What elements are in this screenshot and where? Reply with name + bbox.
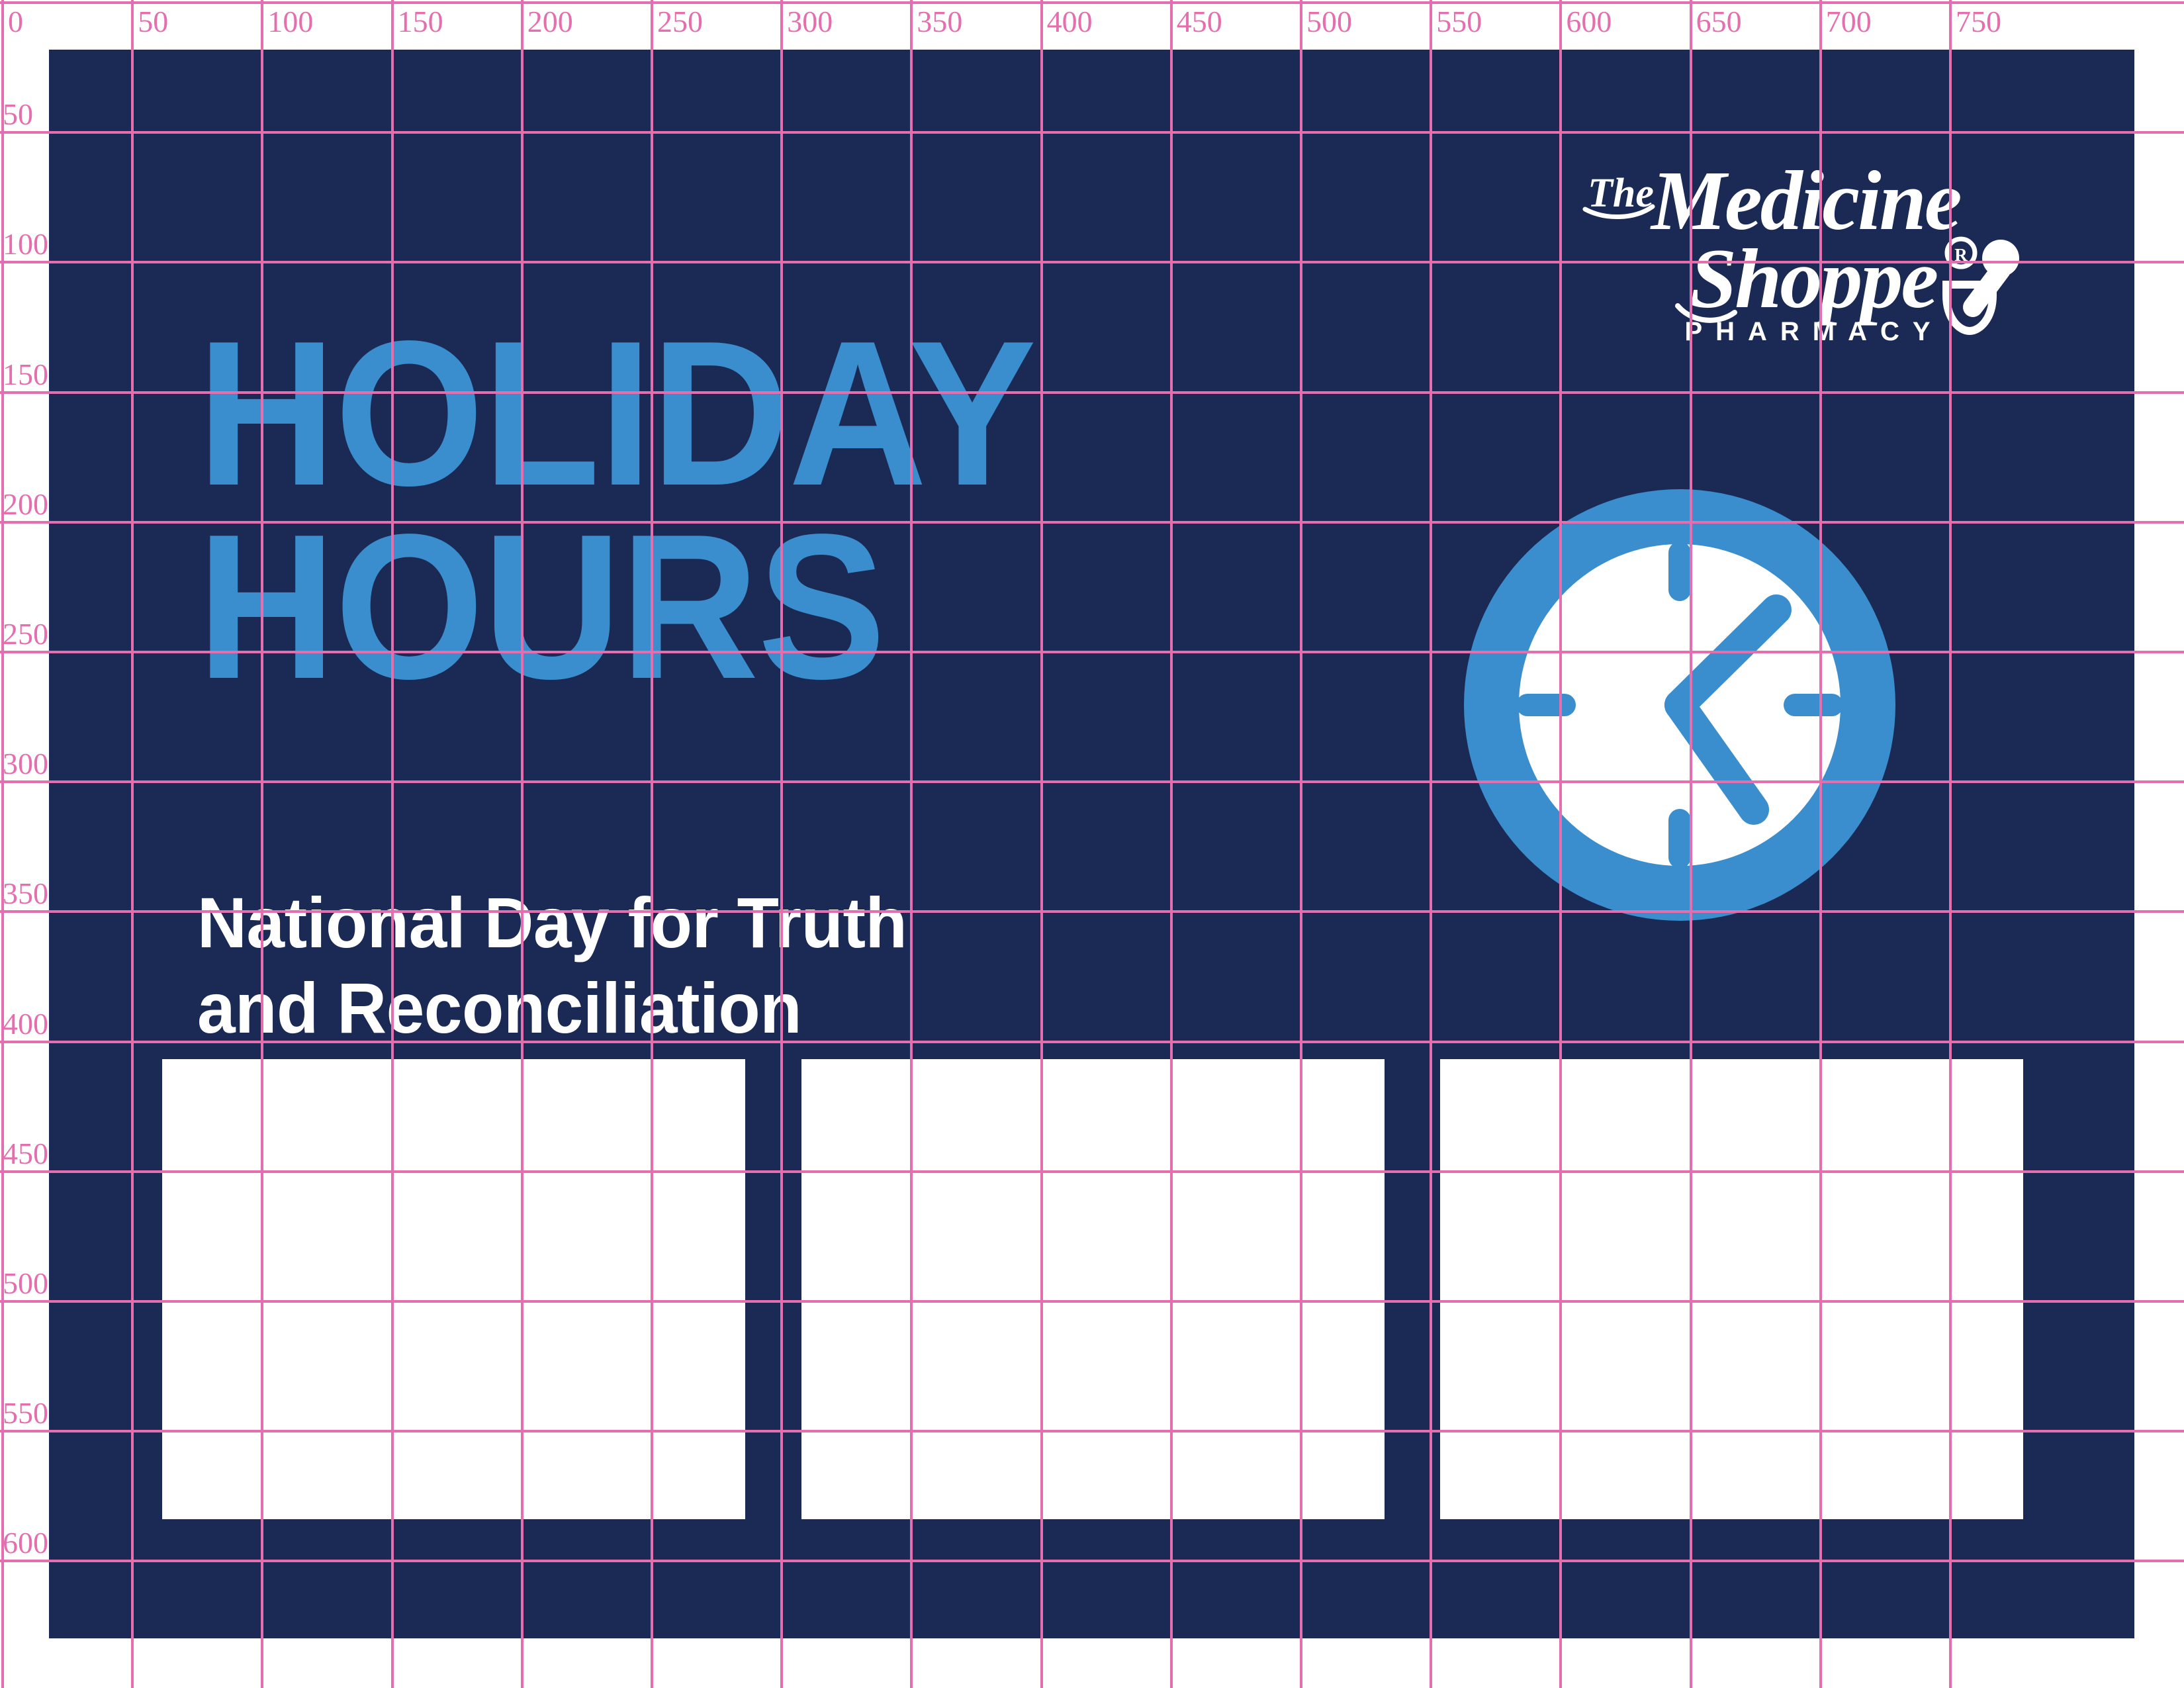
ruler-y-label-450: 450 [3,1139,48,1169]
ruler-y-label-150: 150 [3,359,48,390]
subtitle-line-2: and Reconciliation [197,966,1150,1051]
ruler-x-label-350: 350 [917,7,962,37]
ruler-x-label-250: 250 [657,7,703,37]
ruler-y-label-550: 550 [3,1398,48,1429]
ruler-x-label-400: 400 [1047,7,1093,37]
ruler-y-label-600: 600 [3,1528,48,1558]
ruler-x-label-650: 650 [1696,7,1742,37]
clock-icon [1455,480,1905,930]
page-title: HOLIDAY HOURS [197,318,1428,704]
ruler-x-label-700: 700 [1826,7,1872,37]
ruler-y-label-300: 300 [3,749,48,779]
page-subtitle: National Day for Truth and Reconciliatio… [197,880,1150,1051]
grid-line-vertical-0 [1,0,4,1688]
poster-canvas: HOLIDAY HOURS National Day for Truth and… [0,0,2184,1688]
logo-pharmacy-word: PHARMACY [1578,317,2036,347]
ruler-y-label-50: 50 [3,99,33,130]
ruler-y-label-400: 400 [3,1009,48,1039]
hours-box-2[interactable] [801,1059,1385,1519]
ruler-y-label-100: 100 [3,229,48,259]
ruler-y-label-350: 350 [3,878,48,909]
logo-script-group: The Medicine Shoppe [1585,165,1960,326]
headline-line-2: HOURS [197,511,1428,704]
grid-line-horizontal-0 [0,1,2184,4]
ruler-x-label-200: 200 [527,7,573,37]
artboard: HOLIDAY HOURS National Day for Truth and… [49,50,2134,1638]
subtitle-line-1: National Day for Truth [197,880,1150,966]
svg-text:R: R [1954,245,1968,265]
ruler-x-label-750: 750 [1956,7,2001,37]
ruler-x-label-300: 300 [787,7,833,37]
headline-line-1: HOLIDAY [197,318,1428,511]
ruler-y-label-500: 500 [3,1268,48,1299]
ruler-y-label-200: 200 [3,489,48,520]
hours-box-1[interactable] [162,1059,745,1519]
brand-logo: The Medicine Shoppe R [1578,165,2042,351]
ruler-x-label-50: 50 [138,7,168,37]
ruler-x-label-450: 450 [1177,7,1222,37]
ruler-x-label-500: 500 [1306,7,1352,37]
ruler-y-label-250: 250 [3,619,48,649]
ruler-x-label-100: 100 [267,7,313,37]
svg-text:Shoppe: Shoppe [1690,232,1936,326]
registered-mark-icon: R [1947,239,1975,267]
ruler-x-label-550: 550 [1436,7,1482,37]
ruler-x-label-600: 600 [1566,7,1612,37]
ruler-x-label-0: 0 [8,7,23,37]
ruler-x-label-150: 150 [398,7,443,37]
hours-box-3[interactable] [1440,1059,2023,1519]
